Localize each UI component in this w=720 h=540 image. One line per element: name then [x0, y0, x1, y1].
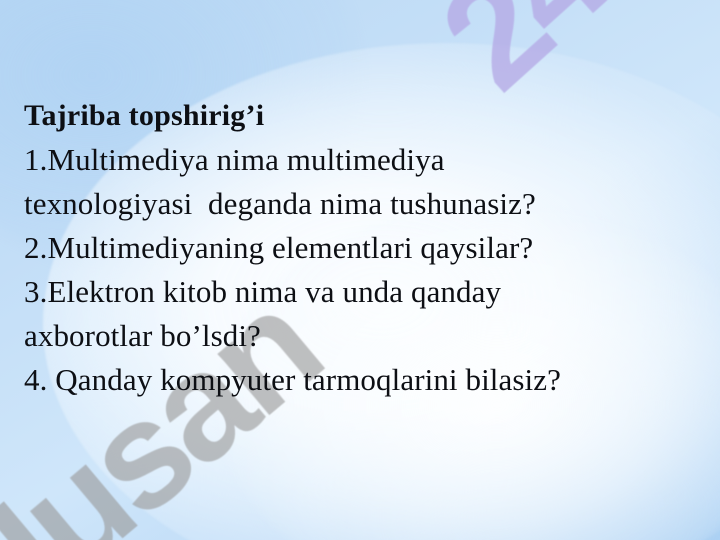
question-3-line-1: 3.Elektron kitob nima va unda qanday [24, 270, 714, 314]
presentation-slide: 24 Husan Tajriba topshirig’i 1.Multimedi… [0, 0, 720, 540]
slide-text-body: Tajriba topshirig’i 1.Multimediya nima m… [24, 94, 714, 402]
question-1-line-2: texnologiyasi deganda nima tushunasiz? [24, 182, 714, 226]
question-1-line-1: 1.Multimediya nima multimediya [24, 138, 714, 182]
question-4: 4. Qanday kompyuter tarmoqlarini bilasiz… [24, 358, 714, 402]
question-2: 2.Multimediyaning elementlari qaysilar? [24, 226, 714, 270]
slide-title: Tajriba topshirig’i [24, 94, 714, 138]
question-3-line-2: axborotlar bo’lsdi? [24, 314, 714, 358]
